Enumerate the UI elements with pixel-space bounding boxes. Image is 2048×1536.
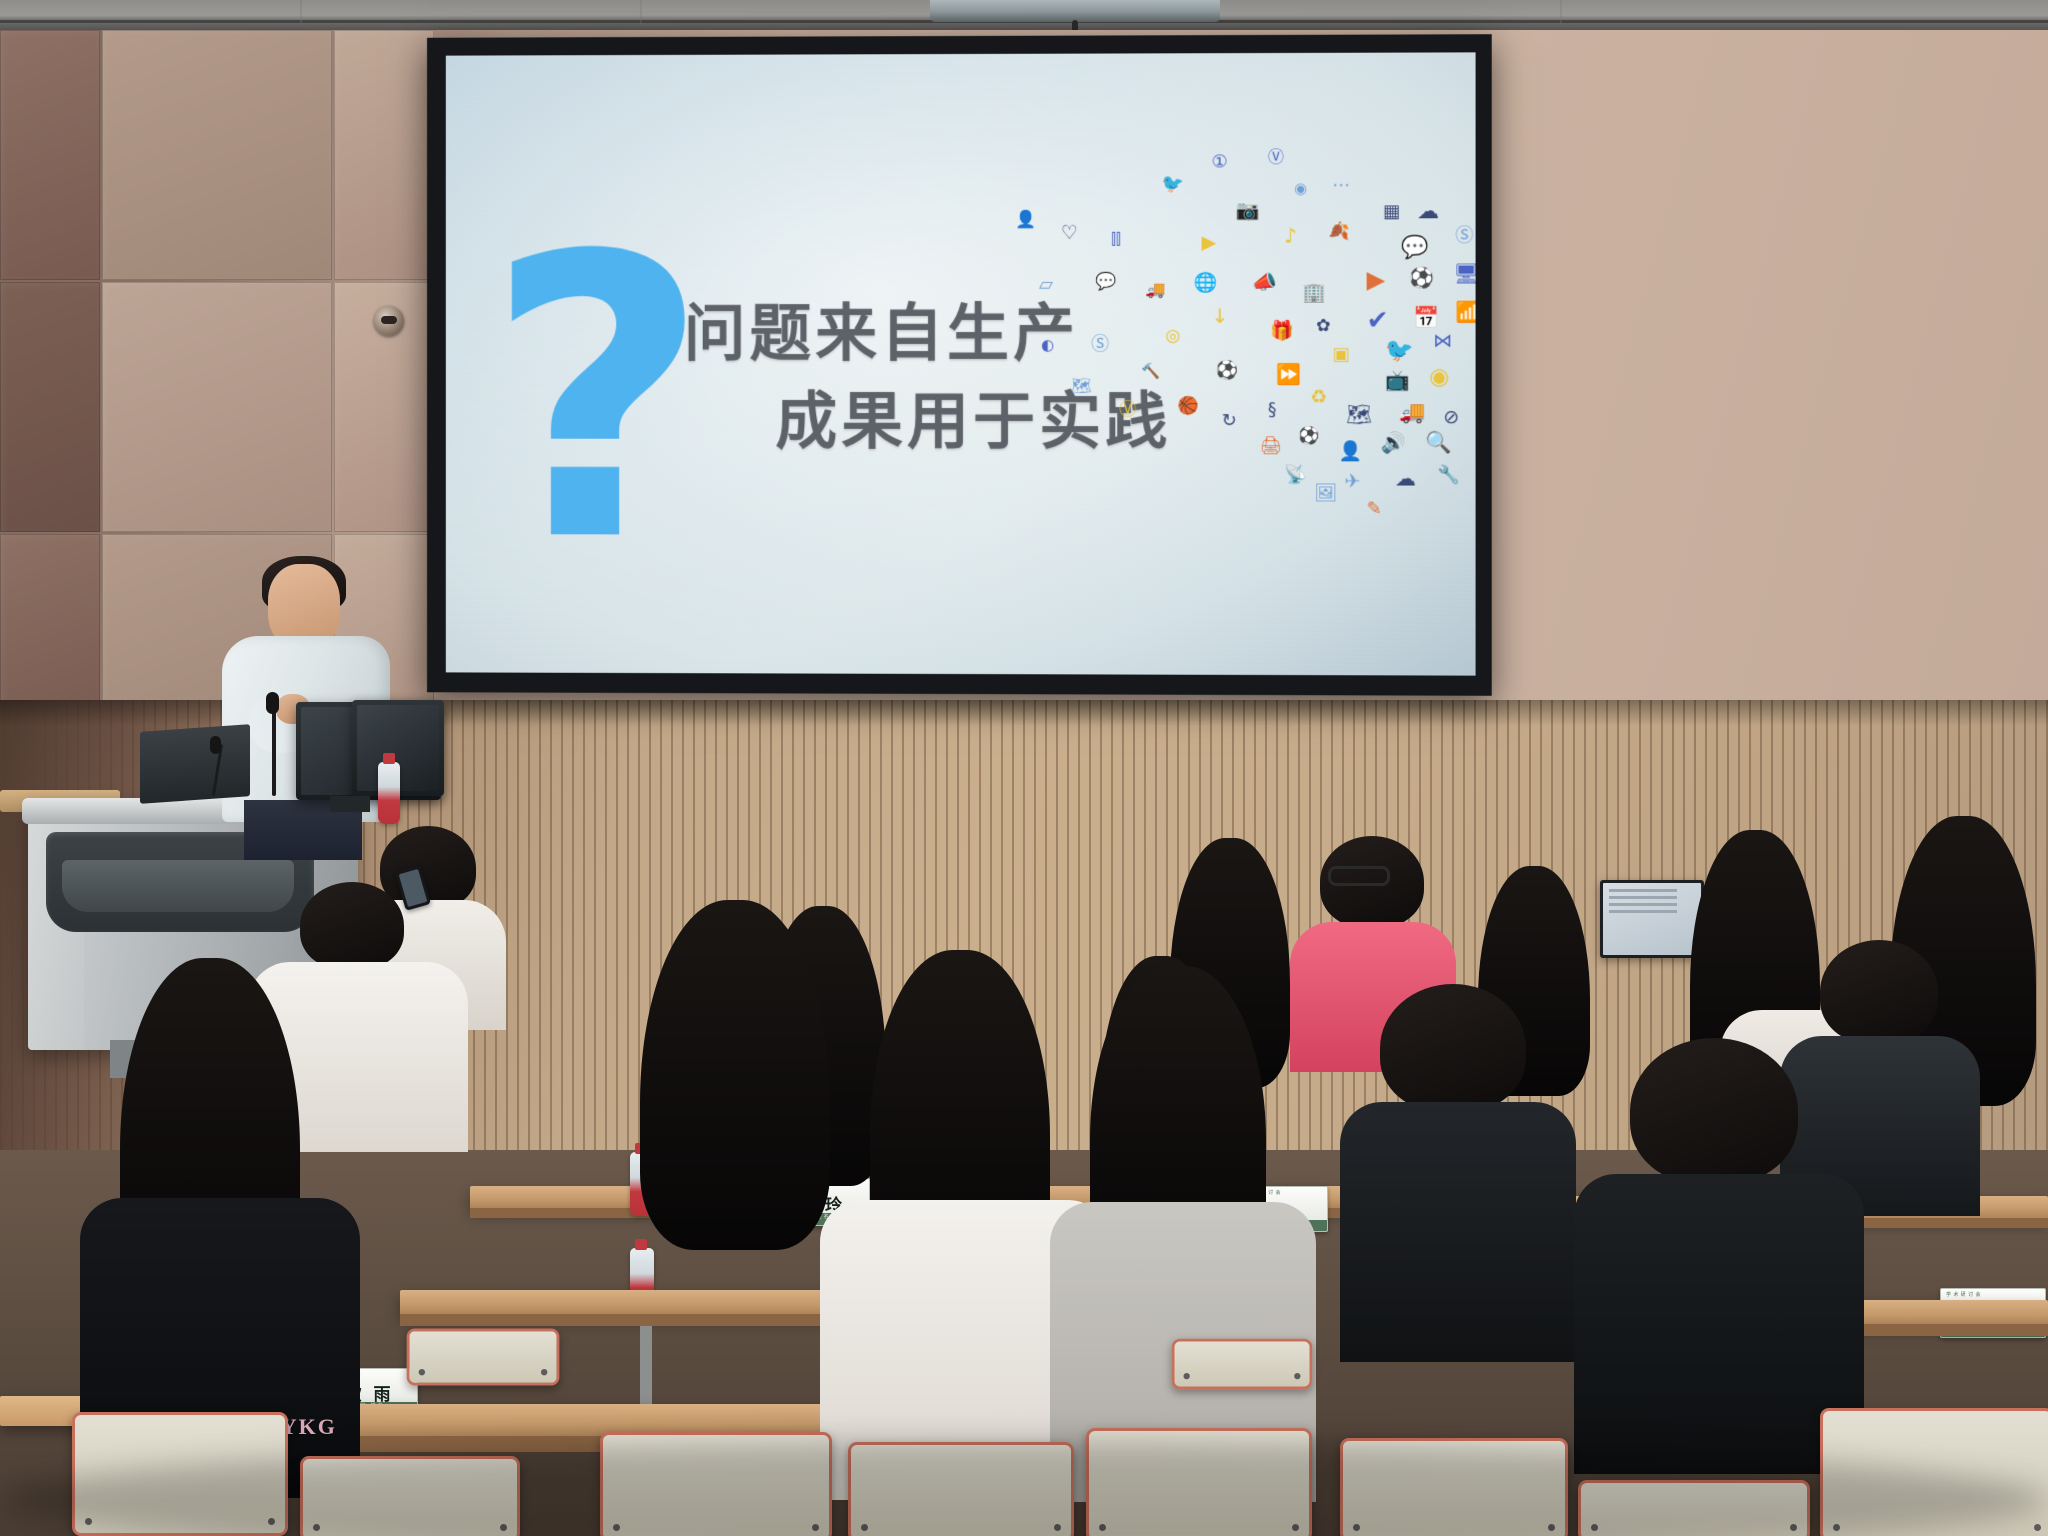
wall-panel [0, 282, 100, 532]
wall-panel [102, 30, 332, 280]
cloud-icon: 🐦 [1161, 176, 1184, 194]
cloud-icon: Ⓥ [1268, 149, 1284, 165]
cloud-icon: ⚽ [1298, 428, 1319, 445]
cloud-icon: ♻ [1310, 388, 1327, 407]
cloud-icon: ↻ [1222, 412, 1237, 430]
chair-back [407, 1328, 560, 1385]
cloud-icon: ⊘ [1443, 408, 1459, 427]
cloud-icon: 🎁 [1270, 322, 1294, 341]
cloud-icon: ◉ [1429, 366, 1449, 389]
cloud-icon: ☁ [1395, 468, 1416, 489]
tablet-display [1603, 883, 1701, 955]
cloud-icon: 🚚 [1145, 282, 1165, 298]
cloud-icon: ☁ [1417, 201, 1439, 223]
cloud-icon: ✎ [1367, 501, 1382, 519]
cloud-icon: ⫿⫿ [1111, 232, 1121, 247]
microphone-icon [266, 692, 279, 714]
cloud-icon: 📡 [1284, 466, 1307, 484]
ceiling-tile-line [640, 0, 642, 24]
projection-screen-surface: ? 问题来自生产 成果用于实践 👤♡⫿⫿🐦▱💬🚚◐Ⓢ🗺🔨Ⓥ①Ⓥ◉⋯📷♪🍂▶▦☁Ⓢ… [446, 52, 1476, 675]
cloud-icon: 📺 [1385, 370, 1410, 390]
cloud-icon: ✿ [1316, 318, 1330, 335]
cloud-icon: ✈ [1344, 472, 1360, 491]
cloud-icon: 🏀 [1177, 398, 1198, 415]
wall-panel [334, 30, 434, 280]
ceiling-tile-line [1560, 0, 1562, 24]
lectern-laptop[interactable] [140, 724, 250, 804]
cloud-icon: 🗺 [1346, 404, 1372, 424]
cloud-icon: ⏩ [1276, 364, 1301, 384]
cloud-icon: Ⓥ [1119, 402, 1136, 419]
cloud-icon: ♪ [1284, 226, 1297, 246]
ceiling-projector [930, 0, 1220, 22]
cloud-icon: 🗺 [1071, 378, 1091, 394]
cloud-icon: 📅 [1413, 308, 1439, 329]
microphone-stem [272, 700, 276, 796]
cloud-icon: ◐ [1041, 338, 1054, 353]
cloud-icon: 🍂 [1328, 223, 1349, 240]
projection-screen: ? 问题来自生产 成果用于实践 👤♡⫿⫿🐦▱💬🚚◐Ⓢ🗺🔨Ⓥ①Ⓥ◉⋯📷♪🍂▶▦☁Ⓢ… [427, 34, 1492, 696]
question-mark-graphic: ? [483, 250, 711, 549]
cloud-icon: Ⓢ [1091, 336, 1109, 354]
tablet-device[interactable] [1600, 880, 1704, 958]
cloud-icon: 🌐 [1194, 274, 1218, 293]
cloud-icon: ⋈ [1433, 332, 1452, 351]
cloud-icon: ▱ [1039, 276, 1053, 294]
cloud-icon: 🔍 [1425, 432, 1451, 453]
cloud-icon: 🚚 [1399, 402, 1425, 423]
cloud-icon: Ⓢ [1455, 227, 1473, 245]
placard-top-note: 学 术 研 讨 会 [1946, 1291, 1981, 1298]
chair-back [1172, 1339, 1312, 1389]
cloud-icon: 🔧 [1437, 466, 1460, 484]
cloud-icon: 👤 [1015, 212, 1036, 229]
eyeglasses-icon [1328, 866, 1390, 886]
cloud-icon: ⚽ [1216, 362, 1239, 380]
cloud-icon: ↓ [1212, 306, 1229, 326]
wall-panel [102, 282, 332, 532]
water-bottle [378, 762, 400, 824]
cloud-icon: 🖥 [1453, 263, 1475, 283]
cloud-icon: 🐦 [1385, 340, 1414, 363]
cloud-icon: 💬 [1401, 237, 1429, 259]
wall-sensor-icon [374, 306, 404, 336]
cloud-icon: 📣 [1252, 272, 1277, 292]
cloud-icon: ♡ [1061, 224, 1078, 243]
cloud-icon: 📷 [1236, 201, 1260, 220]
table-leg [640, 1326, 652, 1404]
cloud-icon: ▶ [1202, 234, 1217, 253]
cloud-icon: ⚽ [1409, 268, 1434, 288]
cloud-icon: ▣ [1332, 346, 1349, 364]
wall-panel [0, 30, 100, 280]
cloud-icon: § [1268, 402, 1277, 419]
monitor-stand [330, 796, 370, 812]
cloud-icon: ▦ [1383, 203, 1400, 221]
cloud-icon: 📶 [1455, 302, 1475, 322]
cloud-icon: 🔊 [1381, 432, 1406, 452]
cloud-icon: ① [1212, 153, 1228, 171]
cloud-icon: ▶ [1367, 268, 1386, 292]
cloud-icon: 💬 [1095, 274, 1116, 291]
cloud-icon: ⋯ [1332, 177, 1349, 194]
cloud-icon: ✔ [1367, 308, 1389, 334]
cloud-icon: 🏢 [1302, 284, 1326, 303]
ceiling-tile-line [300, 0, 302, 24]
cloud-icon: 👤 [1338, 442, 1362, 461]
cloud-icon: 🖨 [1260, 438, 1282, 455]
cloud-icon: 🔨 [1141, 364, 1160, 379]
cloud-icon: ◉ [1294, 181, 1307, 196]
lecture-hall-scene: ? 问题来自生产 成果用于实践 👤♡⫿⫿🐦▱💬🚚◐Ⓢ🗺🔨Ⓥ①Ⓥ◉⋯📷♪🍂▶▦☁Ⓢ… [0, 0, 2048, 1536]
cloud-icon: 🖼 [1314, 484, 1337, 502]
microphone-icon [210, 736, 221, 754]
cloud-icon: ◎ [1165, 328, 1180, 345]
lectern-control-tray [62, 860, 294, 912]
social-media-icon-head-graphic: 👤♡⫿⫿🐦▱💬🚚◐Ⓢ🗺🔨Ⓥ①Ⓥ◉⋯📷♪🍂▶▦☁Ⓢ💬🌐📣🏢▶⚽🖥↓🎁✿✔📅📶◎▣🐦… [983, 115, 1476, 578]
